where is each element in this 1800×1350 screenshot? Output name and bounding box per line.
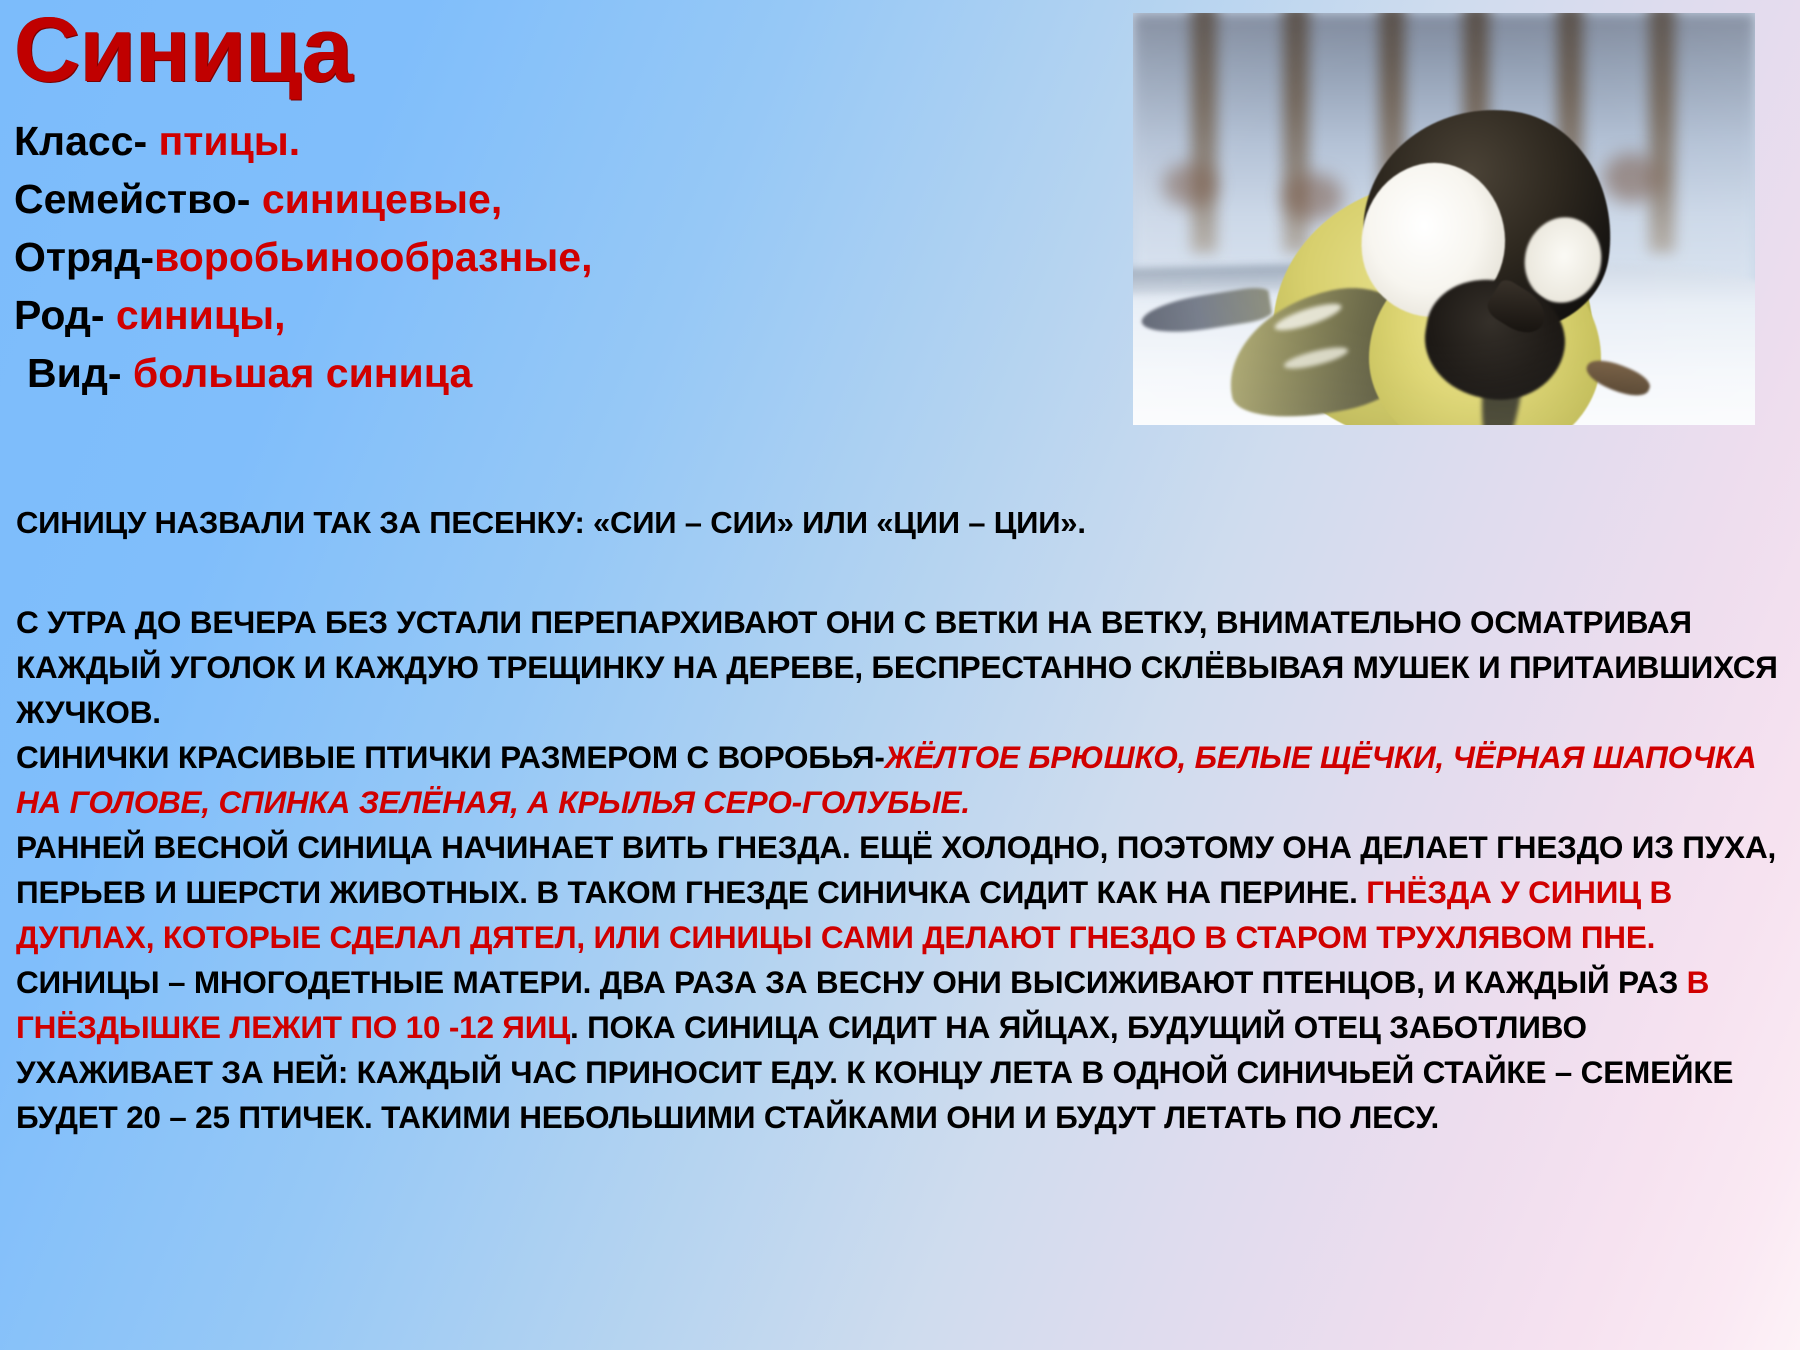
lead-sentence: СИНИЦУ НАЗВАЛИ ТАК ЗА ПЕСЕНКУ: «СИИ – СИ… <box>16 503 1756 543</box>
taxonomy-value-family: синицевые, <box>250 176 502 222</box>
body-text-block: С УТРА ДО ВЕЧЕРА БЕЗ УСТАЛИ ПЕРЕПАРХИВАЮ… <box>16 600 1786 1140</box>
taxonomy-row-genus: Род- синицы, <box>14 286 1124 344</box>
paragraph-appearance: СИНИЧКИ КРАСИВЫЕ ПТИЧКИ РАЗМЕРОМ С ВОРОБ… <box>16 735 1786 825</box>
photo-vignette <box>1133 13 1755 425</box>
bird-photo <box>1133 13 1755 425</box>
taxonomy-row-family: Семейство- синицевые, <box>14 170 1124 228</box>
paragraph-behaviour-text: С УТРА ДО ВЕЧЕРА БЕЗ УСТАЛИ ПЕРЕПАРХИВАЮ… <box>16 604 1778 730</box>
paragraph-nesting: РАННЕЙ ВЕСНОЙ СИНИЦА НАЧИНАЕТ ВИТЬ ГНЕЗД… <box>16 825 1786 960</box>
paragraph-breeding: СИНИЦЫ – МНОГОДЕТНЫЕ МАТЕРИ. ДВА РАЗА ЗА… <box>16 960 1786 1140</box>
taxonomy-label-class: Класс- <box>14 118 147 164</box>
page-title: Синица <box>14 2 352 99</box>
slide-canvas: Синица Класс- птицы. Семейство- синицевы… <box>0 0 1800 1350</box>
taxonomy-value-order: воробьинообразные, <box>154 234 592 280</box>
taxonomy-row-species: Вид- большая синица <box>14 344 1124 402</box>
taxonomy-label-order: Отряд- <box>14 234 154 280</box>
taxonomy-list: Класс- птицы. Семейство- синицевые, Отря… <box>14 112 1124 402</box>
taxonomy-label-family: Семейство- <box>14 176 250 222</box>
taxonomy-label-species: Вид- <box>27 350 122 396</box>
taxonomy-value-genus: синицы, <box>105 292 286 338</box>
taxonomy-label-genus: Род- <box>14 292 105 338</box>
paragraph-behaviour: С УТРА ДО ВЕЧЕРА БЕЗ УСТАЛИ ПЕРЕПАРХИВАЮ… <box>16 600 1786 735</box>
taxonomy-value-class: птицы. <box>147 118 300 164</box>
paragraph-appearance-intro: СИНИЧКИ КРАСИВЫЕ ПТИЧКИ РАЗМЕРОМ С ВОРОБ… <box>16 739 885 775</box>
taxonomy-value-species: большая синица <box>122 350 473 396</box>
taxonomy-row-class: Класс- птицы. <box>14 112 1124 170</box>
paragraph-breeding-intro: СИНИЦЫ – МНОГОДЕТНЫЕ МАТЕРИ. ДВА РАЗА ЗА… <box>16 964 1687 1000</box>
taxonomy-row-order: Отряд-воробьинообразные, <box>14 228 1124 286</box>
